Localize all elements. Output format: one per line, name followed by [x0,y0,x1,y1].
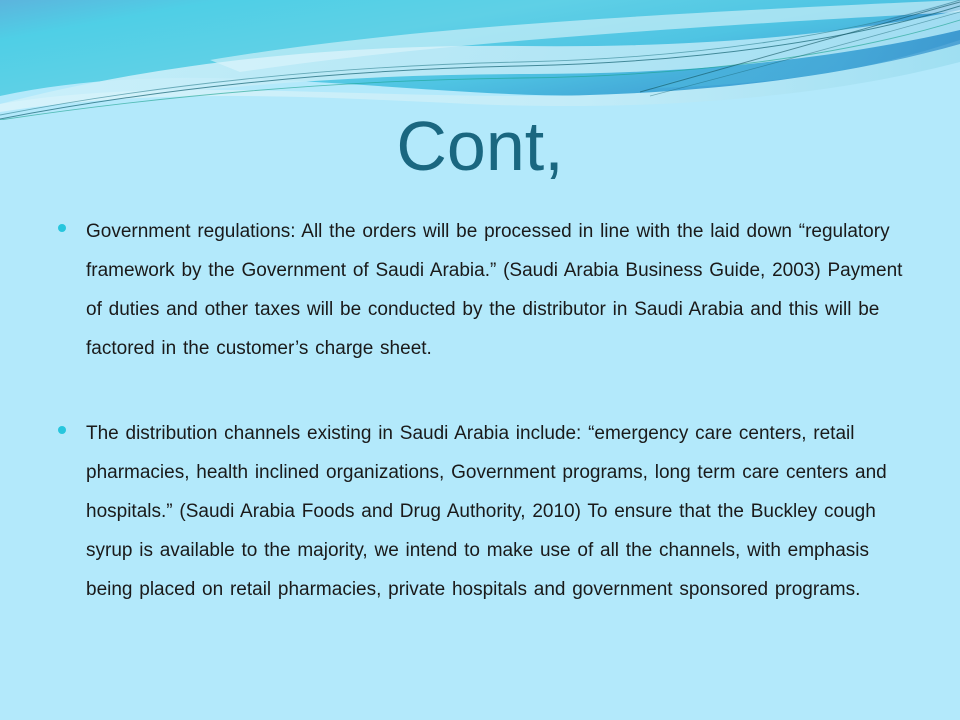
page-title: Cont, [0,104,960,188]
list-item: The distribution channels existing in Sa… [48,414,920,609]
bullet-dot-icon [58,224,66,232]
bullet-text: The distribution channels existing in Sa… [86,414,920,609]
slide-body: Government regulations: All the orders w… [48,212,920,609]
slide: Cont, Government regulations: All the or… [0,0,960,720]
list-item: Government regulations: All the orders w… [48,212,920,368]
wave-banner-graphic [0,0,960,120]
bullet-text: Government regulations: All the orders w… [86,212,920,368]
bullet-dot-icon [58,426,66,434]
